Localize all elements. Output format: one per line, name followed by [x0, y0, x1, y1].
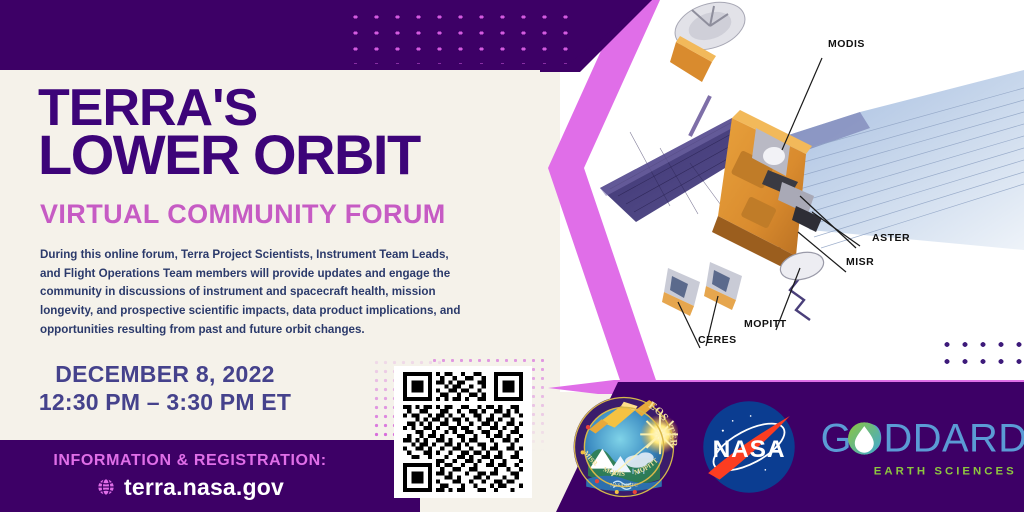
nasa-logo: NASA: [700, 398, 798, 496]
terra-satellite-illustration: [560, 0, 1024, 392]
top-dot-pattern: [345, 6, 575, 64]
registration-link[interactable]: terra.nasa.gov: [96, 474, 284, 501]
svg-text:NASA: NASA: [713, 436, 786, 463]
logo-row: EOS TERRA MISR MODIS MOPITT NASA-GSFC: [556, 382, 1024, 512]
title-line-1: TERRA'S: [38, 70, 560, 131]
satellite-label-mopitt: MOPITT: [744, 318, 787, 330]
svg-text:EARTH SCIENCES: EARTH SCIENCES: [874, 466, 1017, 478]
title-line-2: LOWER ORBIT: [38, 131, 560, 179]
event-date: DECEMBER 8, 2022: [0, 360, 330, 388]
satellite-label-ceres: CERES: [698, 334, 737, 346]
event-datetime: DECEMBER 8, 2022 12:30 PM – 3:30 PM ET: [0, 360, 330, 416]
satellite-label-modis: MODIS: [828, 38, 865, 50]
registration-url: terra.nasa.gov: [124, 474, 284, 501]
subtitle: VIRTUAL COMMUNITY FORUM: [0, 199, 560, 230]
globe-icon: [96, 477, 116, 497]
event-time: 12:30 PM – 3:30 PM ET: [0, 388, 330, 416]
satellite-label-aster: ASTER: [872, 232, 910, 244]
page-title: TERRA'S LOWER ORBIT: [0, 70, 560, 179]
registration-label: INFORMATION & REGISTRATION:: [53, 452, 326, 470]
terra-mission-patch-logo: EOS TERRA MISR MODIS MOPITT NASA-GSFC: [570, 393, 678, 501]
right-dot-pattern: [938, 336, 1024, 370]
poster-canvas: MODIS ASTER MISR MOPITT CERES TERRA'S LO…: [0, 0, 1024, 512]
satellite-label-misr: MISR: [846, 256, 874, 268]
goddard-earth-sciences-logo: GODDARD EARTH SCIENCES: [820, 410, 1024, 484]
registration-block: INFORMATION & REGISTRATION: terra.nasa.g…: [0, 440, 420, 512]
description-text: During this online forum, Terra Project …: [0, 246, 500, 340]
svg-text:NASA-GSFC: NASA-GSFC: [610, 484, 638, 489]
